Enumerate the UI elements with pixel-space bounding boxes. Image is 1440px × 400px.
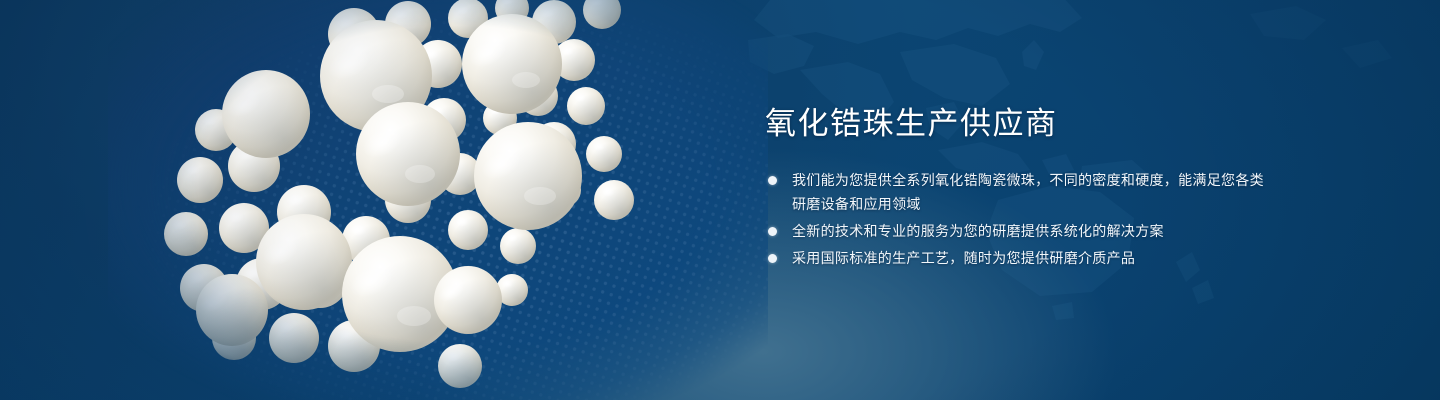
list-item: 采用国际标准的生产工艺，随时为您提供研磨介质产品: [765, 246, 1265, 270]
hero-banner: 氧化锆珠生产供应商 我们能为您提供全系列氧化锆陶瓷微珠，不同的密度和硬度，能满足…: [0, 0, 1440, 400]
bullet-text: 全新的技术和专业的服务为您的研磨提供系统化的解决方案: [792, 219, 1265, 243]
bullet-dot-icon: [768, 176, 777, 185]
banner-headline: 氧化锆珠生产供应商: [765, 104, 1265, 144]
banner-copy: 氧化锆珠生产供应商 我们能为您提供全系列氧化锆陶瓷微珠，不同的密度和硬度，能满足…: [765, 104, 1265, 273]
bullet-dot-icon: [768, 254, 777, 263]
list-item: 我们能为您提供全系列氧化锆陶瓷微珠，不同的密度和硬度，能满足您各类研磨设备和应用…: [765, 168, 1265, 216]
bullet-dot-icon: [768, 227, 777, 236]
banner-bullet-list: 我们能为您提供全系列氧化锆陶瓷微珠，不同的密度和硬度，能满足您各类研磨设备和应用…: [765, 168, 1265, 270]
bullet-text: 我们能为您提供全系列氧化锆陶瓷微珠，不同的密度和硬度，能满足您各类研磨设备和应用…: [792, 168, 1265, 216]
bullet-text: 采用国际标准的生产工艺，随时为您提供研磨介质产品: [792, 246, 1265, 270]
list-item: 全新的技术和专业的服务为您的研磨提供系统化的解决方案: [765, 219, 1265, 243]
